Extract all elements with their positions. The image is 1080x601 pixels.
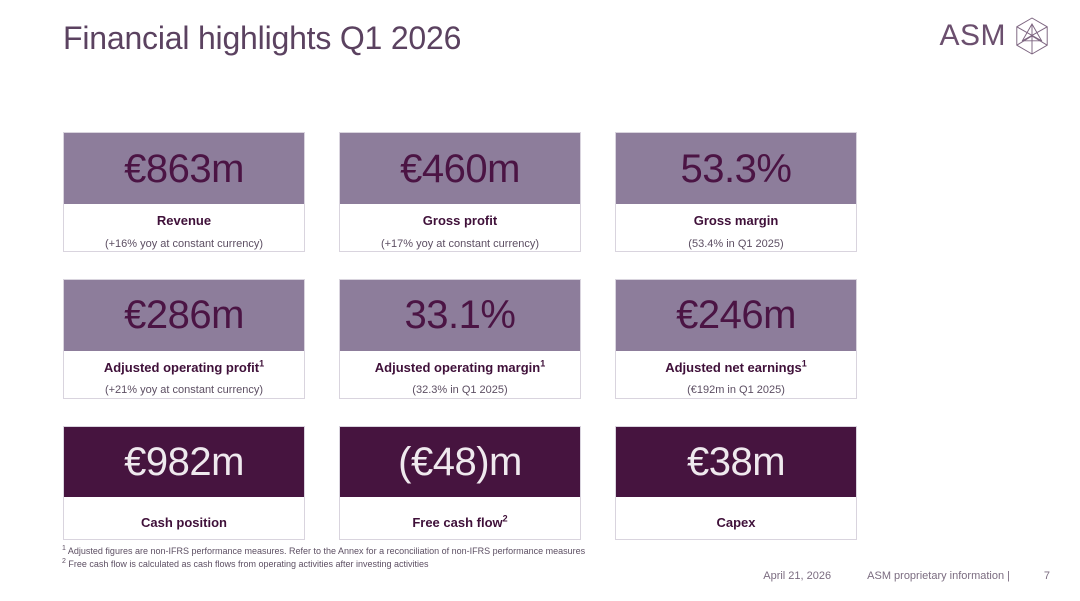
kpi-label-superscript: 1	[802, 358, 807, 368]
kpi-subtext: (+17% yoy at constant currency)	[340, 238, 580, 251]
kpi-value: €246m	[676, 295, 796, 335]
kpi-value: €38m	[687, 442, 785, 482]
brand-logo-text: ASM	[939, 21, 1006, 51]
kpi-label-superscript: 1	[259, 358, 264, 368]
kpi-body: Revenue (+16% yoy at constant currency)	[64, 204, 304, 251]
kpi-value: €286m	[124, 295, 244, 335]
kpi-body: Capex	[616, 497, 856, 540]
kpi-body: Adjusted operating margin1 (32.3% in Q1 …	[340, 351, 580, 398]
kpi-value: 53.3%	[681, 149, 792, 189]
footnote-text: Adjusted figures are non-IFRS performanc…	[66, 546, 585, 556]
footnote-line: 1 Adjusted figures are non-IFRS performa…	[62, 545, 585, 558]
kpi-subtext: (€192m in Q1 2025)	[616, 384, 856, 397]
kpi-subtext: (32.3% in Q1 2025)	[340, 384, 580, 397]
kpi-subtext: (+16% yoy at constant currency)	[64, 238, 304, 251]
slide-header: Financial highlights Q1 2026 ASM	[0, 0, 1080, 100]
kpi-card: €286m Adjusted operating profit1 (+21% y…	[63, 279, 305, 399]
kpi-label: Revenue	[64, 213, 304, 229]
kpi-value-band: €982m	[64, 427, 304, 497]
kpi-label: Adjusted operating profit1	[64, 360, 304, 376]
footnotes: 1 Adjusted figures are non-IFRS performa…	[62, 545, 585, 571]
kpi-label: Capex	[616, 506, 856, 531]
footer-page-number: 7	[1040, 570, 1050, 582]
kpi-label: Gross margin	[616, 213, 856, 229]
kpi-value: €863m	[124, 149, 244, 189]
kpi-card: €982m Cash position	[63, 426, 305, 541]
kpi-value-band: (€48)m	[340, 427, 580, 497]
kpi-value-band: €863m	[64, 133, 304, 204]
kpi-label: Free cash flow2	[340, 506, 580, 531]
kpi-value: €982m	[124, 442, 244, 482]
kpi-label-text: Adjusted net earnings	[665, 360, 802, 375]
kpi-body: Cash position	[64, 497, 304, 540]
footnote-line: 2 Free cash flow is calculated as cash f…	[62, 558, 585, 571]
kpi-card: €38m Capex	[615, 426, 857, 541]
kpi-body: Gross profit (+17% yoy at constant curre…	[340, 204, 580, 251]
footer-date: April 21, 2026	[763, 570, 831, 582]
kpi-value-band: €286m	[64, 280, 304, 351]
kpi-label-text: Revenue	[157, 213, 211, 228]
kpi-body: Free cash flow2	[340, 497, 580, 540]
kpi-body: Adjusted operating profit1 (+21% yoy at …	[64, 351, 304, 398]
kpi-label: Adjusted net earnings1	[616, 360, 856, 376]
kpi-label-superscript: 1	[540, 358, 545, 368]
kpi-value: (€48)m	[398, 442, 522, 482]
kpi-card-grid: €863m Revenue (+16% yoy at constant curr…	[63, 132, 858, 540]
asm-hexagon-logo-icon	[1012, 16, 1052, 56]
kpi-label-text: Cash position	[141, 515, 227, 530]
kpi-label-text: Adjusted operating margin	[375, 360, 540, 375]
footnote-text: Free cash flow is calculated as cash flo…	[66, 559, 429, 569]
kpi-card: 53.3% Gross margin (53.4% in Q1 2025)	[615, 132, 857, 252]
kpi-value-band: €460m	[340, 133, 580, 204]
kpi-label-text: Adjusted operating profit	[104, 360, 259, 375]
kpi-label: Adjusted operating margin1	[340, 360, 580, 376]
kpi-label-text: Gross profit	[423, 213, 497, 228]
kpi-card: €863m Revenue (+16% yoy at constant curr…	[63, 132, 305, 252]
kpi-value-band: 53.3%	[616, 133, 856, 204]
kpi-value-band: 33.1%	[340, 280, 580, 351]
kpi-label: Cash position	[64, 506, 304, 531]
kpi-value-band: €38m	[616, 427, 856, 497]
kpi-value-band: €246m	[616, 280, 856, 351]
brand-logo: ASM	[939, 16, 1052, 56]
kpi-label-text: Gross margin	[694, 213, 779, 228]
kpi-card: €246m Adjusted net earnings1 (€192m in Q…	[615, 279, 857, 399]
kpi-value: 33.1%	[405, 295, 516, 335]
kpi-body: Gross margin (53.4% in Q1 2025)	[616, 204, 856, 251]
kpi-value: €460m	[400, 149, 520, 189]
kpi-body: Adjusted net earnings1 (€192m in Q1 2025…	[616, 351, 856, 398]
kpi-card: (€48)m Free cash flow2	[339, 426, 581, 541]
kpi-subtext: (53.4% in Q1 2025)	[616, 238, 856, 251]
footer-proprietary-notice: ASM proprietary information |	[867, 570, 1010, 582]
page-title: Financial highlights Q1 2026	[63, 20, 461, 57]
kpi-label-text: Capex	[716, 515, 755, 530]
kpi-card: €460m Gross profit (+17% yoy at constant…	[339, 132, 581, 252]
kpi-label-superscript: 2	[503, 513, 508, 523]
kpi-label: Gross profit	[340, 213, 580, 229]
kpi-card: 33.1% Adjusted operating margin1 (32.3% …	[339, 279, 581, 399]
slide-footer: April 21, 2026 ASM proprietary informati…	[763, 570, 1050, 582]
kpi-subtext: (+21% yoy at constant currency)	[64, 384, 304, 397]
kpi-label-text: Free cash flow	[412, 515, 502, 530]
